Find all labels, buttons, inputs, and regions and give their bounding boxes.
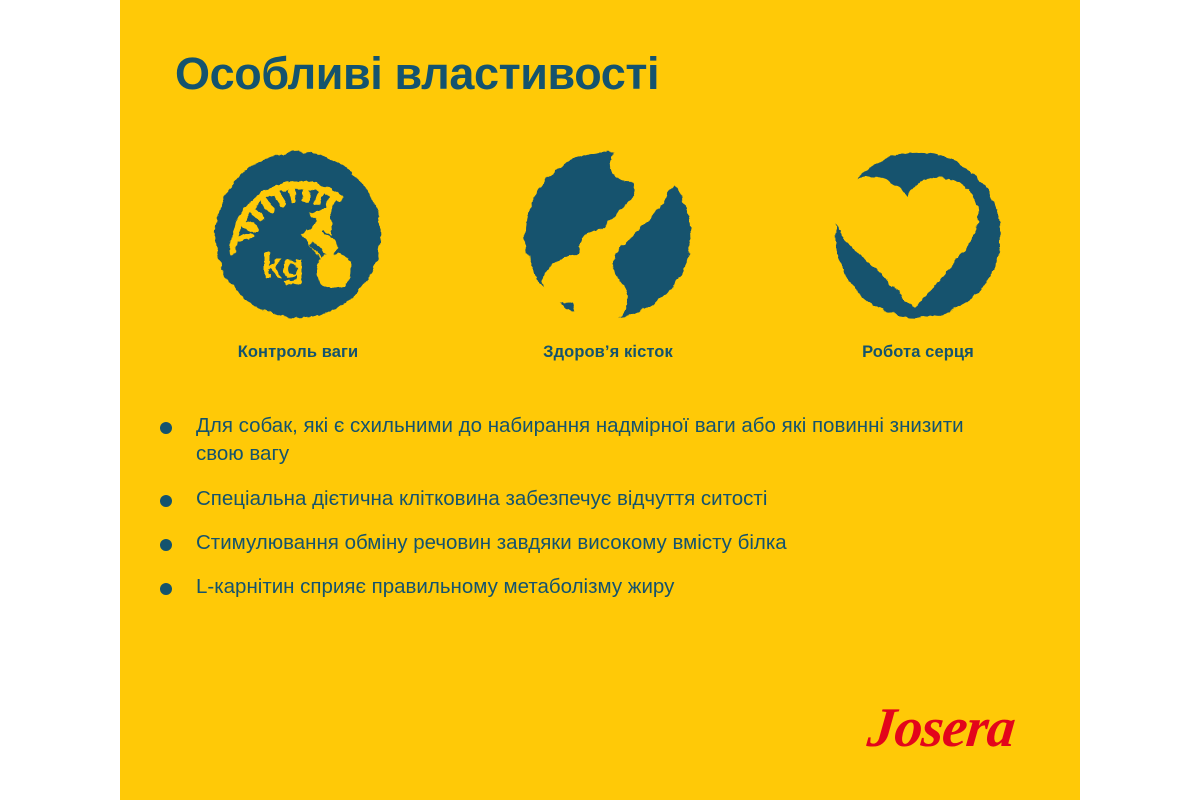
feature-item-heart-health: Робота серця (768, 145, 1068, 362)
list-item: Для собак, які є схильними до набирання … (160, 412, 1040, 469)
feature-label-heart-health: Робота серця (862, 343, 974, 362)
bullet-text: Стимулювання обміну речовин завдяки висо… (196, 529, 787, 557)
bullet-dot-icon (160, 583, 172, 595)
bullet-dot-icon (160, 539, 172, 551)
josera-logo: Josera (865, 700, 1017, 756)
bullet-dot-icon (160, 495, 172, 507)
page-title: Особливі властивості (175, 50, 659, 97)
bullet-text: Для собак, які є схильними до набирання … (196, 412, 986, 469)
list-item: L-карнітин сприяє правильному метаболізм… (160, 573, 1040, 601)
bullet-dot-icon (160, 422, 172, 434)
heart-icon (828, 145, 1008, 325)
list-item: Стимулювання обміну речовин завдяки висо… (160, 529, 1040, 557)
feature-label-bone-health: Здоров’я кісток (543, 343, 673, 362)
feature-bullet-list: Для собак, які є схильними до набирання … (160, 412, 1040, 617)
weight-scale-gauge-icon: kg (208, 145, 388, 325)
feature-item-bone-health: Здоров’я кісток (458, 145, 758, 362)
bullet-text: Спеціальна дієтична клітковина забезпечу… (196, 485, 767, 513)
poster-canvas: Особливі властивості (0, 0, 1200, 800)
list-item: Спеціальна дієтична клітковина забезпечу… (160, 485, 1040, 513)
feature-icon-row: kg Контроль ваги (120, 145, 1080, 362)
yellow-panel: Особливі властивості (120, 0, 1080, 800)
feature-label-weight-control: Контроль ваги (238, 343, 359, 362)
bone-icon (518, 145, 698, 325)
feature-item-weight-control: kg Контроль ваги (148, 145, 448, 362)
bullet-text: L-карнітин сприяє правильному метаболізм… (196, 573, 674, 601)
